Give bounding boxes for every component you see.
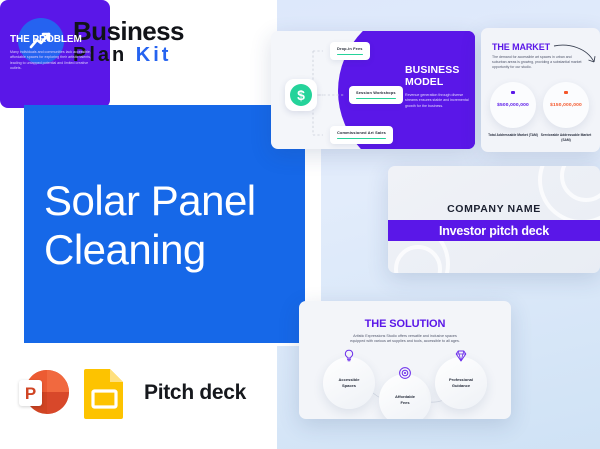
solution-node-3: ProfessionalGuidance: [435, 357, 487, 409]
market-metric-1-value: $500,000,000: [497, 103, 529, 108]
market-metric-1-dot: [511, 91, 514, 94]
business-model-text-block: BUSINESS MODEL Revenue generation throug…: [405, 64, 473, 109]
lightbulb-icon: [341, 348, 357, 364]
dollar-sign-icon: $: [285, 79, 317, 111]
powerpoint-letter: P: [19, 380, 42, 406]
business-model-title: BUSINESS MODEL: [405, 64, 473, 88]
business-model-body: Revenue generation through diverse strea…: [405, 93, 473, 109]
underline-rule: [337, 54, 363, 55]
powerpoint-quadrant-br: [47, 392, 69, 414]
market-metric-1-caption: Total Addressable Market (TAM): [487, 133, 539, 138]
powerpoint-quadrant-tr: [47, 370, 69, 392]
solution-node-1-label: AccessibleSpaces: [339, 377, 360, 388]
business-model-title-line-1: BUSINESS: [405, 64, 473, 76]
solution-node-1-circle: AccessibleSpaces: [323, 357, 375, 409]
underline-rule: [337, 138, 386, 139]
format-badges: P Pitch deck: [19, 367, 246, 419]
slide-card-solution[interactable]: THE SOLUTION Artistic Expressions Studio…: [299, 301, 511, 419]
business-model-title-line-2: MODEL: [405, 76, 473, 88]
business-model-item-2-label: Session Workshops: [356, 90, 396, 95]
format-badge-label: Pitch deck: [144, 381, 246, 405]
diamond-icon: [453, 348, 469, 364]
business-model-item-1-label: Drop-in Fees: [337, 46, 363, 51]
solution-node-3-label: ProfessionalGuidance: [449, 377, 473, 388]
business-model-item-3[interactable]: Commissioned Art Sales: [330, 126, 393, 144]
dollar-symbol: $: [290, 84, 312, 106]
solution-node-1: AccessibleSpaces: [323, 357, 375, 409]
company-name-subtitle: Investor pitch deck: [439, 224, 549, 238]
solution-node-3-circle: ProfessionalGuidance: [435, 357, 487, 409]
business-model-item-1[interactable]: Drop-in Fees: [330, 42, 370, 60]
google-slides-icon: [83, 367, 126, 419]
promo-hero-canvas: Business Plan Kit Solar Panel Cleaning P…: [0, 0, 600, 449]
target-icon: [397, 365, 413, 381]
hero-title-line-1: Solar Panel: [44, 176, 256, 225]
underline-rule: [356, 98, 396, 99]
market-metric-2-dot: [564, 91, 567, 94]
market-metric-2-value: $150,000,000: [550, 103, 582, 108]
hero-title-line-2: Cleaning: [44, 225, 256, 274]
market-title: THE MARKET: [492, 42, 550, 52]
brand-kit-text: Kit: [136, 44, 172, 66]
company-name-title: COMPANY NAME: [388, 203, 600, 215]
market-metric-1: $500,000,000: [490, 82, 536, 128]
business-model-item-2[interactable]: Session Workshops: [349, 86, 403, 104]
market-metric-2: $150,000,000: [543, 82, 589, 128]
hero-title: Solar Panel Cleaning: [44, 176, 256, 274]
problem-title: THE PROBLEM: [10, 34, 82, 45]
problem-body: Many individuals and communities lack ac…: [10, 50, 96, 72]
solution-node-2: AffordableFees: [379, 374, 431, 419]
market-metric-2-caption: Serviceable Addressable Market (SAM): [540, 133, 592, 142]
brand-line-1: Business: [73, 18, 184, 44]
market-body: The demand for accessible art spaces in …: [492, 55, 584, 70]
business-model-item-3-label: Commissioned Art Sales: [337, 130, 386, 135]
solution-node-2-label: AffordableFees: [395, 394, 415, 405]
microsoft-powerpoint-icon: P: [19, 368, 69, 418]
slide-card-business-model[interactable]: $ Drop-in Fees Session Workshops Commiss…: [271, 31, 475, 149]
slide-card-company-name[interactable]: COMPANY NAME Investor pitch deck: [388, 166, 600, 273]
slide-card-market[interactable]: THE MARKET The demand for accessible art…: [481, 28, 600, 152]
company-name-band: Investor pitch deck: [388, 220, 600, 241]
